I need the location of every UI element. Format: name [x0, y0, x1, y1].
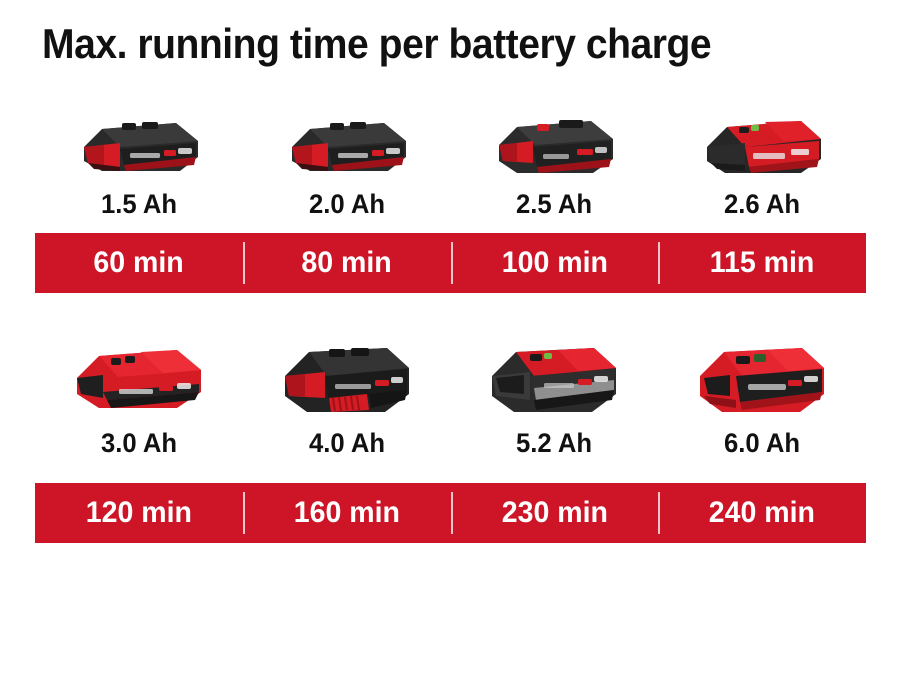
- battery-cell-1-5ah: 1.5 Ah: [35, 100, 243, 218]
- runtime-cell-2-0ah: 80 min: [243, 233, 451, 293]
- battery-image-6-0ah: [682, 336, 842, 424]
- battery-cell-2-0ah: 2.0 Ah: [243, 100, 451, 218]
- runtime-bar-row-2: 120 min 160 min 230 min 240 min: [35, 483, 866, 543]
- battery-capacity-label: 2.0 Ah: [309, 191, 385, 218]
- runtime-cell-1-5ah: 60 min: [35, 233, 243, 293]
- battery-cell-3-0ah: 3.0 Ah: [35, 335, 243, 457]
- battery-cell-6-0ah: 6.0 Ah: [658, 335, 866, 457]
- battery-cell-2-5ah: 2.5 Ah: [451, 100, 659, 218]
- runtime-cell-6-0ah: 240 min: [658, 483, 866, 543]
- runtime-value: 120 min: [86, 498, 192, 528]
- battery-image-1-5ah: [64, 107, 214, 185]
- runtime-value: 115 min: [710, 248, 815, 278]
- battery-image-2-0ah: [272, 107, 422, 185]
- runtime-cell-4-0ah: 160 min: [243, 483, 451, 543]
- battery-cell-2-6ah: 2.6 Ah: [658, 100, 866, 218]
- battery-image-5-2ah: [474, 336, 634, 424]
- battery-capacity-label: 5.2 Ah: [516, 430, 592, 457]
- runtime-bar-row-1: 60 min 80 min 100 min 115 min: [35, 233, 866, 293]
- battery-capacity-label: 6.0 Ah: [724, 430, 800, 457]
- runtime-cell-3-0ah: 120 min: [35, 483, 243, 543]
- battery-capacity-label: 3.0 Ah: [101, 430, 177, 457]
- battery-row-1: 1.5 Ah 2.0 Ah: [35, 100, 866, 218]
- runtime-value: 240 min: [709, 498, 815, 528]
- page-title: Max. running time per battery charge: [42, 22, 814, 66]
- battery-cell-5-2ah: 5.2 Ah: [451, 335, 659, 457]
- runtime-value: 80 min: [301, 248, 391, 278]
- runtime-cell-2-6ah: 115 min: [658, 233, 866, 293]
- battery-image-4-0ah: [267, 336, 427, 424]
- infographic-root: Max. running time per battery charge: [0, 0, 900, 675]
- battery-image-2-6ah: [687, 107, 837, 185]
- runtime-value: 60 min: [94, 248, 184, 278]
- battery-cell-4-0ah: 4.0 Ah: [243, 335, 451, 457]
- runtime-value: 160 min: [294, 498, 400, 528]
- runtime-value: 100 min: [501, 248, 607, 278]
- runtime-cell-2-5ah: 100 min: [451, 233, 659, 293]
- battery-image-2-5ah: [479, 107, 629, 185]
- battery-row-2: 3.0 Ah 4: [35, 335, 866, 457]
- runtime-cell-5-2ah: 230 min: [451, 483, 659, 543]
- battery-capacity-label: 2.6 Ah: [724, 191, 800, 218]
- runtime-value: 230 min: [501, 498, 607, 528]
- battery-image-3-0ah: [59, 336, 219, 424]
- battery-capacity-label: 1.5 Ah: [101, 191, 177, 218]
- battery-capacity-label: 2.5 Ah: [516, 191, 592, 218]
- battery-capacity-label: 4.0 Ah: [309, 430, 385, 457]
